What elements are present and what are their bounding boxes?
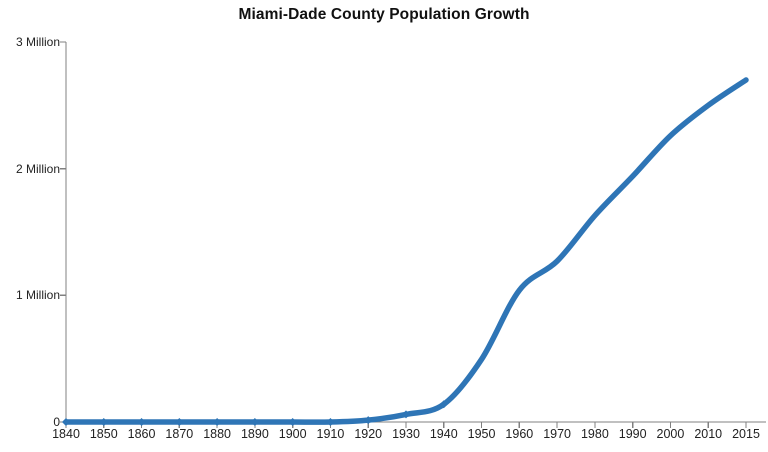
data-point-marker[interactable] xyxy=(213,418,221,426)
y-axis-tick-label: 1 Million xyxy=(16,289,60,301)
y-axis-tick-label: 2 Million xyxy=(16,163,60,175)
population-line[interactable] xyxy=(66,80,746,422)
data-point-marker[interactable] xyxy=(175,418,183,426)
data-point-marker[interactable] xyxy=(289,418,297,426)
x-axis-tick-label: 2015 xyxy=(722,428,768,441)
chart-plot-area xyxy=(0,0,768,452)
data-point-marker[interactable] xyxy=(251,418,259,426)
data-point-marker[interactable] xyxy=(62,418,70,426)
data-point-marker[interactable] xyxy=(100,418,108,426)
population-line-series[interactable] xyxy=(66,80,746,422)
y-axis-tick-label: 3 Million xyxy=(16,36,60,48)
chart-tick-marks xyxy=(60,42,746,428)
chart-container: Miami-Dade County Population Growth 01 M… xyxy=(0,0,768,452)
chart-axes xyxy=(66,42,766,422)
data-point-marker[interactable] xyxy=(138,418,146,426)
